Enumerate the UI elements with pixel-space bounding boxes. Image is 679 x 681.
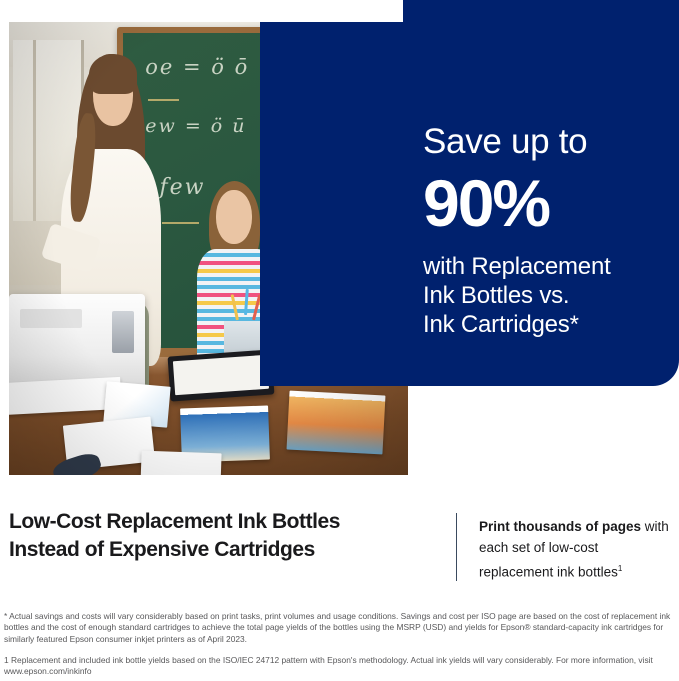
promo-subtext-line-3: Ink Cartridges* (423, 310, 673, 339)
footnote-spacer (4, 645, 677, 655)
secondary-headline-footnote-marker: 1 (618, 564, 622, 573)
secondary-headline-strong: Print thousands of pages (479, 519, 641, 534)
main-headline: Low-Cost Replacement Ink Bottles Instead… (9, 508, 439, 564)
secondary-headline: Print thousands of pages with each set o… (479, 516, 675, 583)
promo-subtext-line-1: with Replacement (423, 252, 673, 281)
vertical-divider (456, 513, 457, 581)
promo-subtext: with Replacement Ink Bottles vs. Ink Car… (423, 252, 673, 339)
promo-subtext-line-2: Ink Bottles vs. (423, 281, 673, 310)
promo-copy: Save up to 90% with Replacement Ink Bott… (423, 122, 673, 339)
footnotes: * Actual savings and costs will vary con… (4, 611, 677, 677)
promo-percent: 90% (423, 166, 673, 240)
headline-row: Low-Cost Replacement Ink Bottles Instead… (0, 508, 679, 590)
main-headline-line-2: Instead of Expensive Cartridges (9, 536, 439, 564)
main-headline-line-1: Low-Cost Replacement Ink Bottles (9, 508, 439, 536)
promo-panel-notch (260, 0, 403, 22)
footnote-one: 1 Replacement and included ink bottle yi… (4, 655, 677, 678)
promo-eyebrow: Save up to (423, 122, 673, 162)
hero-banner: oe = ö ō ew = ö ū few toe aw (0, 0, 679, 478)
footnote-asterisk: * Actual savings and costs will vary con… (4, 611, 677, 645)
promo-blue-panel: Save up to 90% with Replacement Ink Bott… (260, 0, 679, 386)
